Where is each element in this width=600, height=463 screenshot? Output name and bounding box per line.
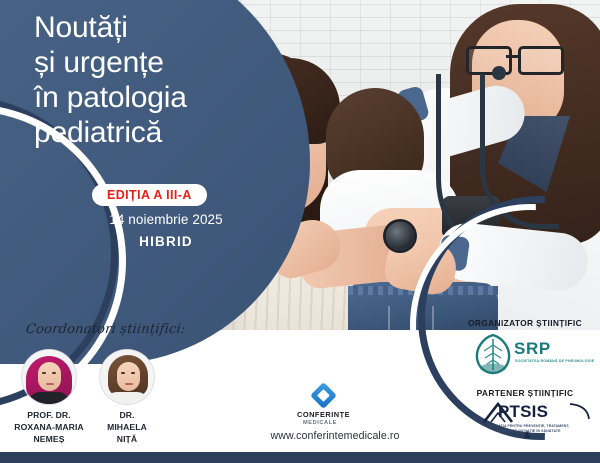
ptsis-logo[interactable]: PTSIS ASOCIATIA PENTRU PREVENȚIE, TRATAM… <box>462 402 594 442</box>
coordinator-2-name: DR. MIHAELA NIȚĂ <box>88 409 166 446</box>
conference-poster: Noutăți și urgențe în patologia pediatri… <box>0 0 600 463</box>
headline-line-3: în patologia <box>34 80 284 115</box>
ptsis-ampersand: & <box>524 430 531 440</box>
headline-line-1: Noutăți <box>34 10 284 45</box>
srp-logo[interactable]: SRP SOCIETATEA ROMÂNĂ DE PNEUMOLOGIE <box>470 332 590 376</box>
poster-headline: Noutăți și urgențe în patologia pediatri… <box>34 10 284 150</box>
diamond-logo-icon <box>310 382 337 409</box>
avatar-mihaela-nita <box>100 350 154 404</box>
partner-label: PARTENER ȘTIINȚIFIC <box>455 388 595 398</box>
edition-badge: EDIȚIA A III-A <box>92 184 207 206</box>
coordinator-2-name-line2: NIȚĂ <box>88 433 166 445</box>
coordinator-1-name: PROF. DR. ROXANA-MARIA NEMEȘ <box>10 409 88 446</box>
bottom-accent-bar <box>0 452 600 463</box>
srp-full-name: SOCIETATEA ROMÂNĂ DE PNEUMOLOGIE <box>515 359 594 363</box>
headline-line-2: și urgențe <box>34 45 284 80</box>
coordinator-1-name-line1: ROXANA-MARIA <box>10 421 88 433</box>
organizer-label: ORGANIZATOR ȘTIINȚIFIC <box>455 318 595 328</box>
srp-acronym: SRP <box>514 339 551 359</box>
coordinator-card-1: PROF. DR. ROXANA-MARIA NEMEȘ <box>10 350 88 446</box>
headline-line-4: pediatrică <box>34 115 284 150</box>
ptsis-acronym: PTSIS <box>498 402 548 422</box>
brand-name-line2: MEDICALE <box>297 420 343 426</box>
event-date: 14 noiembrie 2025 <box>92 212 240 227</box>
srp-lung-icon <box>470 332 516 376</box>
coordinator-card-2: DR. MIHAELA NIȚĂ <box>88 350 166 446</box>
coordinator-1-title: PROF. DR. <box>10 409 88 421</box>
website-url[interactable]: www.conferintemedicale.ro <box>250 430 420 442</box>
coordinators-title: Coordonatori științifici: <box>25 322 186 337</box>
brand-name-line1: CONFERINȚE <box>297 410 343 419</box>
conferinte-medicale-logo[interactable]: CONFERINȚE MEDICALE <box>303 386 343 426</box>
coordinator-1-name-line2: NEMEȘ <box>10 433 88 445</box>
coordinator-2-name-line1: MIHAELA <box>88 421 166 433</box>
avatar-roxana-maria-nemes <box>22 350 76 404</box>
event-format: HIBRID <box>92 234 240 249</box>
coordinator-2-title: DR. <box>88 409 166 421</box>
